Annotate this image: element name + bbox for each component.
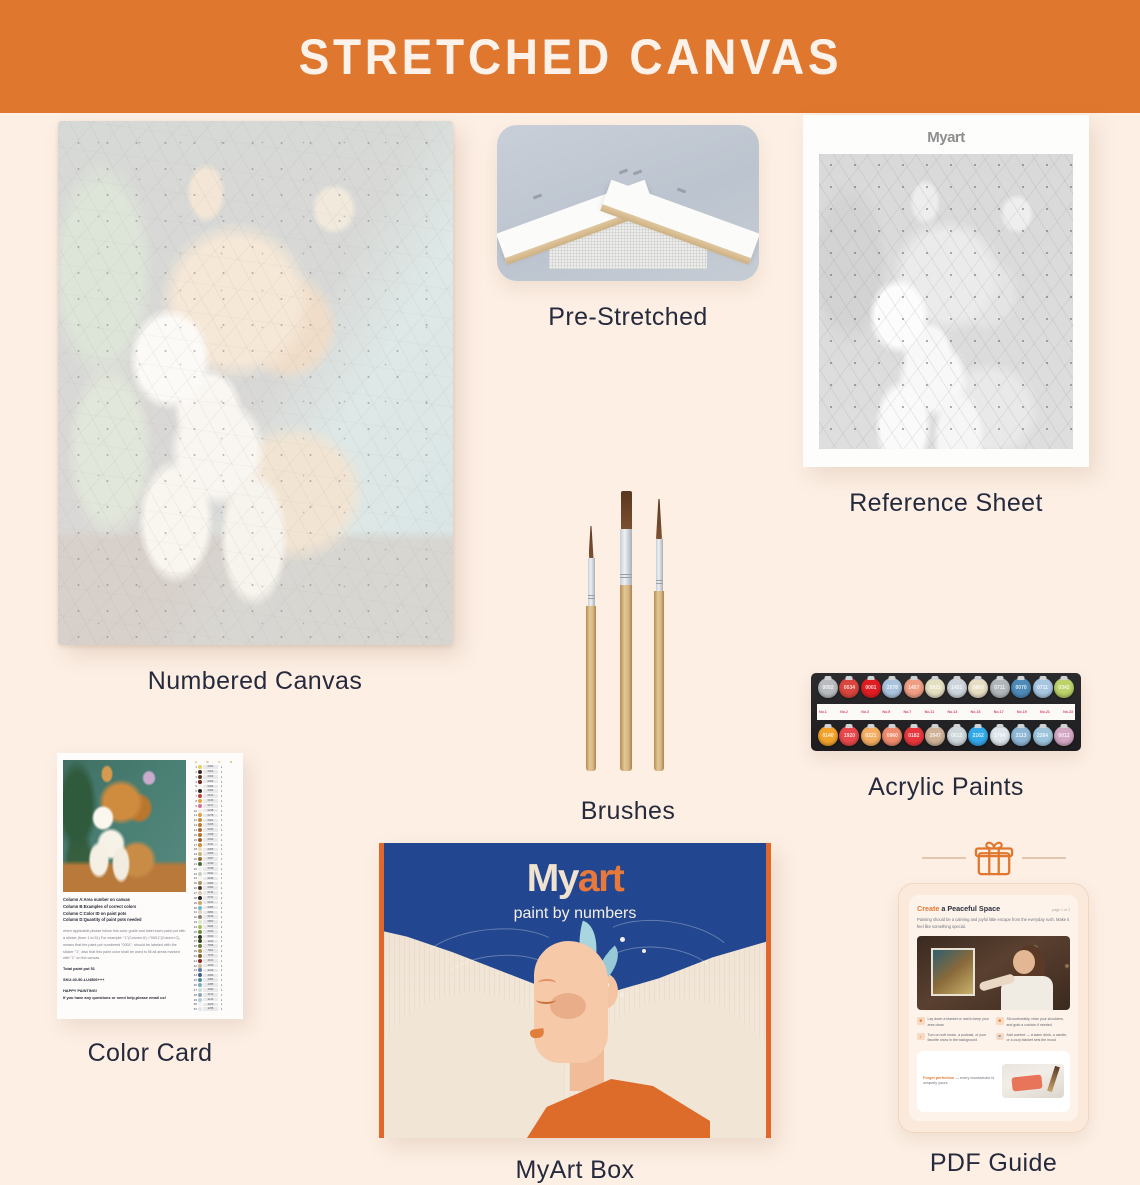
color-card-row: 801661 [190, 799, 237, 803]
color-card-swatch [198, 944, 202, 948]
color-card-column-header: D [230, 760, 232, 764]
paint-pot-code: 2078 [887, 685, 898, 691]
color-card-area-number: 48 [190, 993, 197, 997]
paint-pot-code: 0182 [908, 733, 919, 739]
color-card-row: 4079701 [190, 954, 237, 958]
color-card-contact: If you have any questions or need help,p… [63, 995, 186, 1001]
color-card-quantity: 1 [219, 847, 224, 851]
color-card-quantity: 1 [219, 784, 224, 788]
brush-medium-round [654, 499, 664, 771]
paint-pot-code: 0012 [951, 733, 962, 739]
color-card-row: 3109541 [190, 910, 237, 914]
caption-color-card: Color Card [88, 1039, 213, 1068]
paint-pot-code: 0711 [994, 685, 1005, 691]
color-card-color-id: 0002 [203, 770, 218, 774]
color-card-color-id: 0093 [203, 886, 218, 890]
color-card-swatch [198, 939, 202, 943]
color-card-area-number: 25 [190, 881, 197, 885]
caption-pre-stretched: Pre-Stretched [548, 303, 707, 332]
paint-pot: 0140 [818, 726, 838, 746]
color-card-color-id: 0064 [203, 785, 218, 789]
color-card-quantity: 1 [219, 780, 224, 784]
paint-pot-code: 0960 [887, 733, 898, 739]
color-card-area-number: 4 [190, 780, 197, 784]
color-card-swatch [198, 954, 202, 958]
pdf-tip-item: ■Sit comfortably, relax your shoulders, … [996, 1017, 1070, 1028]
color-card-color-id: 0954 [203, 911, 218, 915]
color-card-swatch [198, 891, 202, 895]
color-card-row: 1400261 [190, 828, 237, 832]
color-card-quantity: 1 [219, 993, 224, 997]
color-card-color-id: 0367 [203, 857, 218, 861]
color-card-quantity: 1 [219, 862, 224, 866]
color-card-row: 1200211 [190, 818, 237, 822]
color-card-color-id: 2169 [203, 1003, 218, 1007]
color-card-color-id: 2083 [203, 974, 218, 978]
paint-tray-label-strip: No.1No.2No.3No.5No.7No.11No.13No.15No.17… [817, 704, 1075, 720]
color-card-row: 2400491 [190, 876, 237, 880]
color-card-quantity: 1 [219, 867, 224, 871]
color-card-color-id: 0325 [203, 823, 218, 827]
color-card-area-number: 11 [190, 813, 197, 817]
color-card-quantity: 1 [219, 828, 224, 832]
color-card-row: 4620851 [190, 983, 237, 987]
color-card-swatch [198, 770, 202, 774]
page-header: STRETCHED CANVAS [0, 0, 1140, 113]
color-card-color-id: 0166 [203, 799, 218, 803]
color-card-area-number: 7 [190, 794, 197, 798]
color-card-area-number: 19 [190, 852, 197, 856]
color-card-table-body: 1000112000213000314000415006416009417010… [190, 765, 237, 1012]
gift-icon [973, 839, 1015, 877]
brush-bristles [621, 491, 632, 529]
color-card-quantity: 1 [219, 838, 224, 842]
color-card-column-header: C [218, 760, 220, 764]
pdf-title-rest: a Peaceful Space [939, 904, 1000, 913]
pdf-guide-header: Create a Peaceful Space page 1 of 3 [917, 904, 1070, 913]
color-card-area-number: 18 [190, 847, 197, 851]
color-card-column-header: A [195, 760, 197, 764]
color-card-swatch [198, 833, 202, 837]
pdf-note-thumbnail [1002, 1064, 1064, 1098]
color-card-swatch [198, 813, 202, 817]
legend-column-a: Column A:Area number on canvas [63, 897, 186, 904]
product-reference-sheet[interactable]: Myart Reference Sheet [796, 115, 1096, 518]
color-card-quantity: 1 [219, 818, 224, 822]
paint-pot: 1457 [904, 678, 924, 698]
color-card-swatch [198, 949, 202, 953]
color-card-swatch [198, 968, 202, 972]
paint-pot: 0092 [818, 678, 838, 698]
brush-handle [654, 591, 664, 771]
color-card-swatch [198, 876, 202, 880]
color-card-area-number: 22 [190, 867, 197, 871]
color-card-row: 1903661 [190, 852, 237, 856]
color-card-swatch [198, 920, 202, 924]
color-card-color-id: 2142 [203, 993, 218, 997]
paint-pot-code: 1451 [951, 685, 962, 691]
pdf-tip-text: Add comfort — a warm drink, a candle, or… [1007, 1033, 1071, 1044]
color-card-color-id: 0103 [203, 794, 218, 798]
color-card-quantity: 1 [219, 775, 224, 779]
pdf-guide-tips: ■Lay down a blanket or mat to keep your … [917, 1017, 1070, 1044]
color-card-swatch [198, 1002, 202, 1006]
paint-pot-code: 1920 [844, 733, 855, 739]
pdf-tip-item: ■Lay down a blanket or mat to keep your … [917, 1017, 991, 1028]
reference-region-numbers [819, 154, 1073, 449]
color-card-color-id: 0003 [203, 775, 218, 779]
color-card-dog-artwork [63, 760, 186, 892]
pdf-note-text: Forget perfection — every brushstroke is… [923, 1076, 997, 1088]
paint-pot: 0182 [904, 726, 924, 746]
pdf-tip-icon: ♪ [917, 1033, 925, 1041]
color-card-color-id: 0328 [203, 833, 218, 837]
color-card-row: 4720931 [190, 988, 237, 992]
color-card-row: 5122581 [190, 1007, 237, 1011]
paint-pot: 2113 [1011, 726, 1031, 746]
color-card-row: 4520841 [190, 978, 237, 982]
brush-handle [620, 585, 632, 771]
color-card-area-number: 27 [190, 891, 197, 895]
color-card-row: 100011 [190, 765, 237, 769]
color-card-quantity: 1 [219, 998, 224, 1002]
color-card-swatch [198, 838, 202, 842]
color-card-area-number: 30 [190, 906, 197, 910]
color-card-swatch [198, 852, 202, 856]
sparkle-dot [620, 937, 625, 942]
color-card-row: 3409341 [190, 925, 237, 929]
color-card-quantity: 1 [219, 857, 224, 861]
paint-pot-code: 1794 [994, 733, 1005, 739]
page-title: STRETCHED CANVAS [298, 28, 842, 86]
caption-acrylic-paints: Acrylic Paints [868, 773, 1024, 802]
color-card-area-number: 15 [190, 833, 197, 837]
paint-pot-code: 0140 [822, 733, 833, 739]
paint-number-label: No.11 [925, 710, 935, 714]
color-card-color-id: 2093 [203, 988, 218, 992]
reference-sheet-page: Myart [803, 115, 1089, 467]
color-card-sku: SKU:40-50-LU4506+++ [63, 977, 186, 983]
color-card-area-number: 29 [190, 901, 197, 905]
paint-pot-code: 1457 [908, 685, 919, 691]
paint-pot: 2162 [968, 726, 988, 746]
color-card-left-column: Column A:Area number on canvas Column B:… [63, 760, 186, 1012]
color-card-color-id: 0162 [203, 901, 218, 905]
color-card-color-id: 2085 [203, 983, 218, 987]
color-card-quantity: 1 [219, 901, 224, 905]
color-card-color-id: 0761 [203, 896, 218, 900]
color-card-swatch [198, 906, 202, 910]
color-card-total: Total paint pot 51 [63, 966, 186, 972]
caption-brushes: Brushes [581, 797, 676, 826]
color-card-color-id: 0049 [203, 877, 218, 881]
color-card-quantity: 1 [219, 794, 224, 798]
color-card-swatch [198, 901, 202, 905]
color-card-area-number: 5 [190, 784, 197, 788]
color-card-quantity: 1 [219, 973, 224, 977]
paint-number-label: No.15 [971, 710, 981, 714]
paint-pot-code: 0021 [930, 685, 941, 691]
sparkle-dot [620, 993, 624, 997]
brush-handle [586, 606, 596, 771]
color-card-quantity: 1 [219, 949, 224, 953]
color-card-quantity: 1 [219, 954, 224, 958]
product-pre-stretched[interactable]: Pre-Stretched [492, 125, 764, 332]
color-card-row: 3878381 [190, 944, 237, 948]
paint-pot-code: 0001 [865, 685, 876, 691]
paint-number-label: No.21 [1040, 710, 1050, 714]
color-card-swatch [198, 1007, 202, 1011]
color-card-quantity: 1 [219, 930, 224, 934]
color-card-swatch [198, 804, 202, 808]
color-card-row: 2003671 [190, 857, 237, 861]
staple-icon [677, 188, 686, 194]
color-card-quantity: 1 [219, 1007, 224, 1011]
color-card-swatch [198, 935, 202, 939]
color-card-quantity: 1 [219, 876, 224, 880]
paint-number-label: No.7 [904, 710, 912, 714]
product-acrylic-paints[interactable]: 0092003400012078145700211451086007110070… [796, 673, 1096, 802]
color-card-quantity: 1 [219, 852, 224, 856]
paint-pot: 0960 [882, 726, 902, 746]
color-card-area-number: 24 [190, 876, 197, 880]
color-card-area-number: 16 [190, 838, 197, 842]
color-card-swatch [198, 978, 202, 982]
color-card-quantity: 1 [219, 843, 224, 847]
paint-pot: 0034 [839, 678, 859, 698]
paint-pot: 0070 [1011, 678, 1031, 698]
color-card-row: 2701341 [190, 891, 237, 895]
color-card-swatch [198, 973, 202, 977]
reference-sheet-image [819, 154, 1073, 449]
caption-myart-box: MyArt Box [516, 1156, 635, 1185]
paint-pot-row-top: 0092003400012078145700211451086007110070… [816, 678, 1076, 698]
paint-number-label: No.2 [840, 710, 848, 714]
color-card-row: 3003861 [190, 905, 237, 909]
color-card-table-header: ABCD [190, 760, 237, 764]
color-card-swatch [198, 828, 202, 832]
paint-pot: 2047 [925, 726, 945, 746]
paint-pot-code: 2264 [1037, 733, 1048, 739]
color-card-row: 3509331 [190, 930, 237, 934]
paint-pot: 0711 [1033, 678, 1053, 698]
color-card-color-id: 2101 [203, 959, 218, 963]
color-card-area-number: 46 [190, 983, 197, 987]
color-card-swatch [198, 998, 202, 1002]
color-card-area-number: 21 [190, 862, 197, 866]
color-card-area-number: 6 [190, 789, 197, 793]
color-card-row: 1600301 [190, 838, 237, 842]
numbered-canvas-image [58, 121, 453, 645]
color-card-swatch [198, 862, 202, 866]
color-card-row: 2200381 [190, 867, 237, 871]
color-card-quantity: 1 [219, 925, 224, 929]
color-card-row: 1102781 [190, 813, 237, 817]
color-card-quantity: 1 [219, 915, 224, 919]
color-card-quantity: 1 [219, 968, 224, 972]
color-card-row: 1803651 [190, 847, 237, 851]
color-card-quantity: 1 [219, 789, 224, 793]
product-brushes[interactable]: Brushes [492, 491, 764, 826]
color-card-color-id: 0933 [203, 930, 218, 934]
color-card-quantity: 1 [219, 809, 224, 813]
pdf-tip-text: Sit comfortably, relax your shoulders, a… [1007, 1017, 1071, 1028]
pdf-guide-subtitle: Painting should be a calming and joyful … [917, 917, 1070, 930]
color-card-area-number: 49 [190, 998, 197, 1002]
staple-icon [633, 170, 642, 176]
color-card-swatch [198, 823, 202, 827]
color-card-quantity: 1 [219, 978, 224, 982]
box-tagline: paint by numbers [384, 905, 766, 923]
color-card-color-id: 0021 [203, 819, 218, 823]
brush-bristles [656, 499, 662, 539]
color-card-color-id: 0083 [203, 882, 218, 886]
color-card-area-number: 50 [190, 1002, 197, 1006]
color-card-swatch [198, 857, 202, 861]
color-card-row: 4420831 [190, 973, 237, 977]
color-card-area-number: 23 [190, 872, 197, 876]
color-card-color-id: 2109 [203, 969, 218, 973]
color-card-color-id: 0038 [203, 867, 218, 871]
paint-number-label: No.1 [819, 710, 827, 714]
paint-pot: 2264 [1033, 726, 1053, 746]
color-card-area-number: 37 [190, 939, 197, 943]
pdf-tip-item: ☕Add comfort — a warm drink, a candle, o… [996, 1033, 1070, 1044]
color-card-swatch [198, 988, 202, 992]
color-card-color-id: 2046 [203, 964, 218, 968]
color-card-row: 2500831 [190, 881, 237, 885]
myart-logo: Myart [384, 859, 766, 898]
paint-pot-row-bottom: 0140192002210960018220470012216217942113… [816, 726, 1076, 746]
color-card-area-number: 34 [190, 925, 197, 929]
color-card-row: 1703111 [190, 843, 237, 847]
color-card-area-number: 10 [190, 809, 197, 813]
color-card-swatch [198, 896, 202, 900]
pre-stretched-photo [497, 125, 759, 281]
color-card-color-id: 0940 [203, 935, 218, 939]
color-card-area-number: 36 [190, 935, 197, 939]
color-card-row: 701031 [190, 794, 237, 798]
color-card-area-number: 33 [190, 920, 197, 924]
paint-number-label: No.19 [1017, 710, 1027, 714]
paint-pot-code: 0860 [973, 685, 984, 691]
pdf-title-highlight: Create [917, 904, 939, 913]
color-card-quantity: 1 [219, 823, 224, 827]
color-card-area-number: 3 [190, 775, 197, 779]
color-card-color-id: 0094 [203, 789, 218, 793]
product-color-card[interactable]: Column A:Area number on canvas Column B:… [46, 753, 254, 1068]
color-card-area-number: 45 [190, 978, 197, 982]
brush-ferrule [588, 558, 595, 606]
brush-flat [620, 491, 632, 771]
paint-pot: 0221 [861, 726, 881, 746]
color-card-swatch [198, 780, 202, 784]
color-card-color-id: 2258 [203, 1007, 218, 1011]
color-card-quantity: 1 [219, 910, 224, 914]
paint-pot-code: 0034 [844, 685, 855, 691]
color-card-row: 5021691 [190, 1002, 237, 1006]
color-card-quantity: 1 [219, 935, 224, 939]
color-card-color-id: 7838 [203, 944, 218, 948]
color-card-quantity: 1 [219, 906, 224, 910]
color-card-color-id: 0004 [203, 780, 218, 784]
color-card-color-id: 2084 [203, 978, 218, 982]
staple-icon [533, 194, 542, 200]
pdf-tip-icon: ■ [917, 1017, 925, 1025]
color-card-table: ABCD 10001120002130003140004150064160094… [190, 760, 237, 1012]
paint-pot: 2078 [882, 678, 902, 698]
color-card-color-id: 0001 [203, 765, 218, 769]
color-card-column-header: B [207, 760, 209, 764]
color-card-row: 1002481 [190, 809, 237, 813]
product-pdf-guide[interactable]: Create a Peaceful Space page 1 of 3 Pain… [886, 839, 1101, 1178]
color-card-swatch [198, 964, 202, 968]
color-card-swatch [198, 794, 202, 798]
sparkle-dot [642, 949, 646, 953]
product-numbered-canvas[interactable]: Numbered Canvas [30, 121, 480, 696]
color-card-row: 4821421 [190, 993, 237, 997]
color-card-swatch [198, 867, 202, 871]
color-card-swatch [198, 847, 202, 851]
color-card-row: 3209161 [190, 915, 237, 919]
color-card-instructions: when applicable,please follow this color… [63, 928, 186, 962]
paint-number-label: No.5 [882, 710, 890, 714]
color-card-color-id: 2144 [203, 998, 218, 1002]
color-card-swatch [198, 799, 202, 803]
color-card-area-number: 47 [190, 988, 197, 992]
color-card-row: 200021 [190, 770, 237, 774]
color-card-area-number: 12 [190, 818, 197, 822]
paint-number-labels: No.1No.2No.3No.5No.7No.11No.13No.15No.17… [819, 710, 1073, 714]
paint-pot-code: 0221 [865, 733, 876, 739]
color-card-area-number: 41 [190, 959, 197, 963]
paint-pot: 1451 [947, 678, 967, 698]
color-card-area-number: 40 [190, 954, 197, 958]
color-card-legend: Column A:Area number on canvas Column B:… [63, 897, 186, 1001]
pdf-guide-card: Create a Peaceful Space page 1 of 3 Pain… [898, 883, 1089, 1133]
color-card-color-id: 0134 [203, 891, 218, 895]
paint-pot: 1794 [990, 726, 1010, 746]
color-card-area-number: 9 [190, 804, 197, 808]
color-card-swatch [198, 910, 202, 914]
color-card-color-id: 0366 [203, 852, 218, 856]
divider-right [1022, 857, 1066, 859]
color-card-row: 3609401 [190, 935, 237, 939]
color-card-area-number: 42 [190, 964, 197, 968]
color-card-row: 600941 [190, 789, 237, 793]
color-card-color-id: 0365 [203, 848, 218, 852]
color-card-row: 3979011 [190, 949, 237, 953]
paint-pot: 0711 [990, 678, 1010, 698]
color-card-swatch [198, 959, 202, 963]
color-card-color-id: 7901 [203, 949, 218, 953]
color-card-quantity: 1 [219, 964, 224, 968]
paint-pot-code: 0070 [1016, 685, 1027, 691]
paint-pot: 0860 [968, 678, 988, 698]
product-myart-box[interactable]: Myart paint by numbers MyArt Box [370, 843, 780, 1185]
caption-reference-sheet: Reference Sheet [849, 489, 1043, 518]
color-card-color-id: 0248 [203, 809, 218, 813]
color-card-row: 4921441 [190, 998, 237, 1002]
paint-number-label: No.17 [994, 710, 1004, 714]
staple-icon [619, 169, 628, 175]
color-card-sheet: Column A:Area number on canvas Column B:… [57, 753, 243, 1019]
color-card-row: 2300411 [190, 872, 237, 876]
color-card-swatch [198, 930, 202, 934]
color-card-swatch [198, 809, 202, 813]
color-card-row: 902171 [190, 804, 237, 808]
color-card-color-id: 0934 [203, 925, 218, 929]
